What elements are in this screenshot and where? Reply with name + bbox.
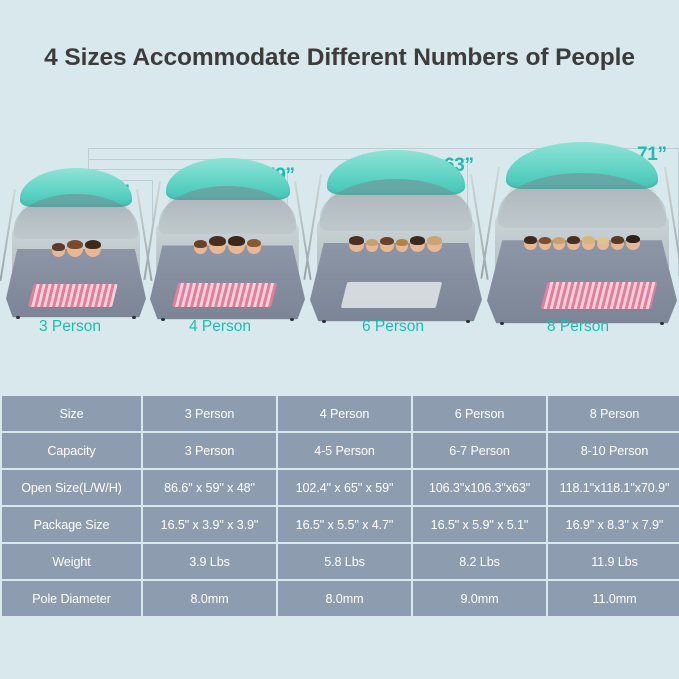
row-label: Package Size <box>2 507 141 542</box>
person-figure <box>427 237 442 253</box>
tent-occupants <box>20 207 132 258</box>
table-cell: 8-10 Person <box>548 433 679 468</box>
infographic-page: 4 Sizes Accommodate Different Numbers of… <box>0 0 679 679</box>
tent-occupants <box>506 189 658 251</box>
person-figure <box>67 241 83 258</box>
tent-peg-right <box>132 316 136 319</box>
tent-peg-right <box>660 322 664 325</box>
person-figure <box>366 240 378 253</box>
person-figure <box>209 237 226 255</box>
table-cell: 6 Person <box>413 396 546 431</box>
tent-peg-left <box>500 322 504 325</box>
person-figure <box>553 238 565 251</box>
person-figure <box>52 244 65 258</box>
table-cell: 118.1"x118.1"x70.9" <box>548 470 679 505</box>
person-figure <box>85 241 101 258</box>
table-cell: 4-5 Person <box>278 433 411 468</box>
table-cell: 11.0mm <box>548 581 679 616</box>
person-figure <box>567 237 580 251</box>
row-label: Size <box>2 396 141 431</box>
table-cell: 16.5" x 3.9" x 3.9" <box>143 507 276 542</box>
table-cell: 3 Person <box>143 433 276 468</box>
tent-4-person <box>150 158 305 320</box>
row-label: Open Size(L/W/H) <box>2 470 141 505</box>
table-row: Size 3 Person 4 Person 6 Person 8 Person <box>2 396 679 431</box>
tent-occupants <box>327 195 465 253</box>
table-cell: 8.0mm <box>278 581 411 616</box>
table-cell: 102.4" x 65" x 59" <box>278 470 411 505</box>
person-figure <box>410 237 425 253</box>
person-figure <box>247 240 261 255</box>
person-figure <box>380 238 394 253</box>
page-title: 4 Sizes Accommodate Different Numbers of… <box>0 44 679 72</box>
person-figure <box>539 238 551 251</box>
picnic-mat <box>28 284 118 307</box>
row-label: Pole Diameter <box>2 581 141 616</box>
tent-comparison-illustration: 48” 59” 63” 71” <box>0 120 679 335</box>
picnic-mat <box>341 282 442 308</box>
picnic-mat <box>172 283 277 307</box>
table-row: Pole Diameter 8.0mm 8.0mm 9.0mm 11.0mm <box>2 581 679 616</box>
person-figure <box>597 238 609 251</box>
table-cell: 106.3"x106.3"x63" <box>413 470 546 505</box>
row-label: Weight <box>2 544 141 579</box>
person-figure <box>228 237 245 255</box>
table-row: Open Size(L/W/H) 86.6" x 59" x 48" 102.4… <box>2 470 679 505</box>
table-cell: 9.0mm <box>413 581 546 616</box>
person-figure <box>349 237 364 253</box>
table-cell: 16.9" x 8.3" x 7.9" <box>548 507 679 542</box>
tent-6-person <box>310 150 482 322</box>
picnic-mat <box>541 282 658 309</box>
size-label-4-person: 4 Person <box>160 318 280 336</box>
table-cell: 16.5" x 5.5" x 4.7" <box>278 507 411 542</box>
size-label-3-person: 3 Person <box>10 318 130 336</box>
table-cell: 16.5" x 5.9" x 5.1" <box>413 507 546 542</box>
person-figure <box>582 237 595 251</box>
tent-peg-right <box>290 318 294 321</box>
person-figure <box>194 241 207 255</box>
size-label-6-person: 6 Person <box>333 318 453 336</box>
table-cell: 8.2 Lbs <box>413 544 546 579</box>
person-figure <box>626 236 640 251</box>
table-row: Weight 3.9 Lbs 5.8 Lbs 8.2 Lbs 11.9 Lbs <box>2 544 679 579</box>
size-label-8-person: 8 Person <box>518 318 638 336</box>
table-cell: 86.6" x 59" x 48" <box>143 470 276 505</box>
table-cell: 8.0mm <box>143 581 276 616</box>
table-cell: 6-7 Person <box>413 433 546 468</box>
table-cell: 5.8 Lbs <box>278 544 411 579</box>
table-cell: 8 Person <box>548 396 679 431</box>
tent-8-person <box>487 142 677 324</box>
person-figure <box>396 240 408 253</box>
specification-table: Size 3 Person 4 Person 6 Person 8 Person… <box>0 394 679 618</box>
table-row: Capacity 3 Person 4-5 Person 6-7 Person … <box>2 433 679 468</box>
row-label: Capacity <box>2 433 141 468</box>
person-figure <box>524 237 537 251</box>
tent-peg-left <box>322 320 326 323</box>
tent-3-person <box>6 168 146 318</box>
table-cell: 3.9 Lbs <box>143 544 276 579</box>
table-cell: 11.9 Lbs <box>548 544 679 579</box>
tent-occupants <box>166 200 290 255</box>
tent-peg-right <box>466 320 470 323</box>
table-cell: 4 Person <box>278 396 411 431</box>
table-row: Package Size 16.5" x 3.9" x 3.9" 16.5" x… <box>2 507 679 542</box>
table-cell: 3 Person <box>143 396 276 431</box>
person-figure <box>611 237 624 251</box>
